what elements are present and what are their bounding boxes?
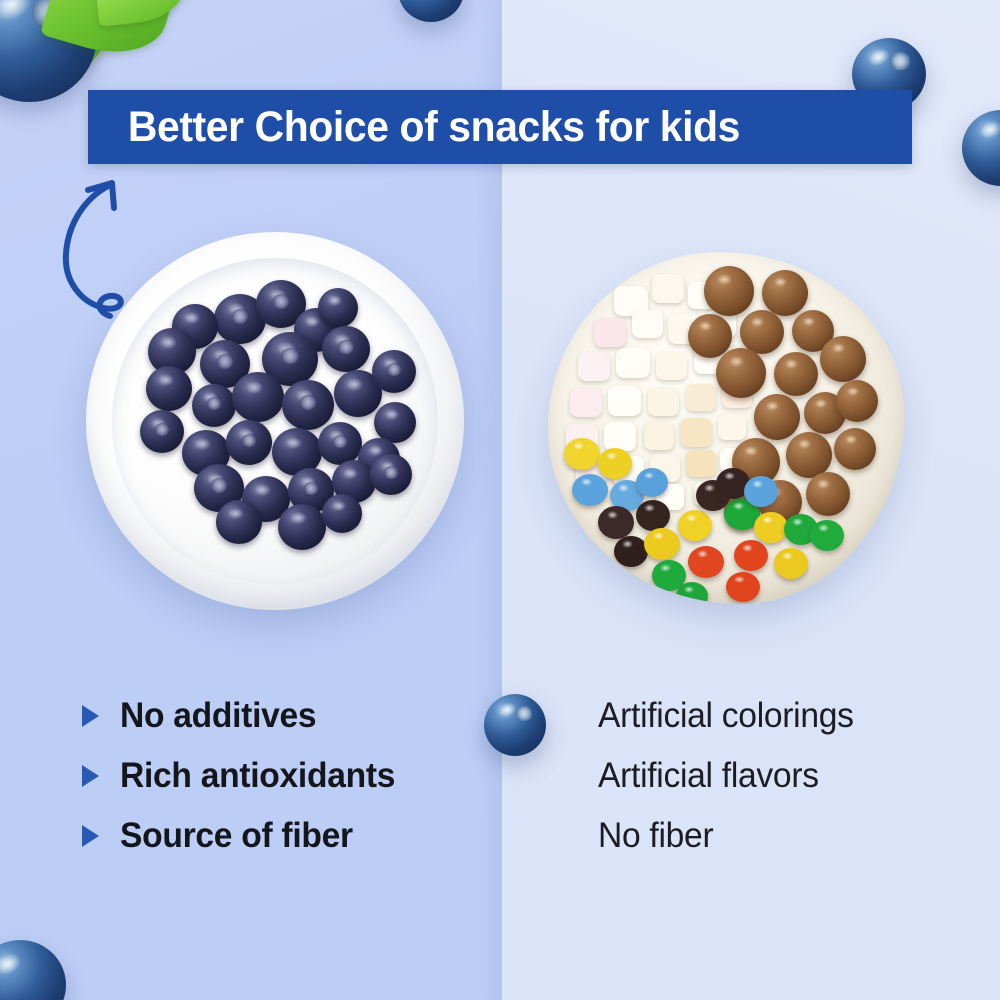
page-title: Better Choice of snacks for kids	[88, 103, 740, 152]
benefits-list: No additives Rich antioxidants Source of…	[82, 686, 492, 866]
list-item: Artificial flavors	[598, 746, 988, 806]
list-item-label: Rich antioxidants	[120, 756, 395, 796]
list-item-label: Artificial colorings	[598, 696, 854, 736]
curved-arrow-icon	[52, 170, 182, 320]
list-item-label: No fiber	[598, 816, 713, 856]
list-item: Rich antioxidants	[82, 746, 492, 806]
title-banner: Better Choice of snacks for kids	[88, 90, 912, 164]
list-item-label: No additives	[120, 696, 316, 736]
triangle-right-icon	[82, 765, 99, 787]
drawbacks-list: Artificial colorings Artificial flavors …	[598, 686, 988, 866]
list-item-label: Source of fiber	[120, 816, 353, 856]
list-item: Artificial colorings	[598, 686, 988, 746]
infographic-poster: Better Choice of snacks for kids No addi…	[0, 0, 1000, 1000]
berry-center-divider-icon	[484, 694, 546, 756]
list-item: No additives	[82, 686, 492, 746]
triangle-right-icon	[82, 825, 99, 847]
list-item-label: Artificial flavors	[598, 756, 819, 796]
list-item: Source of fiber	[82, 806, 492, 866]
triangle-right-icon	[82, 705, 99, 727]
list-item: No fiber	[598, 806, 988, 866]
